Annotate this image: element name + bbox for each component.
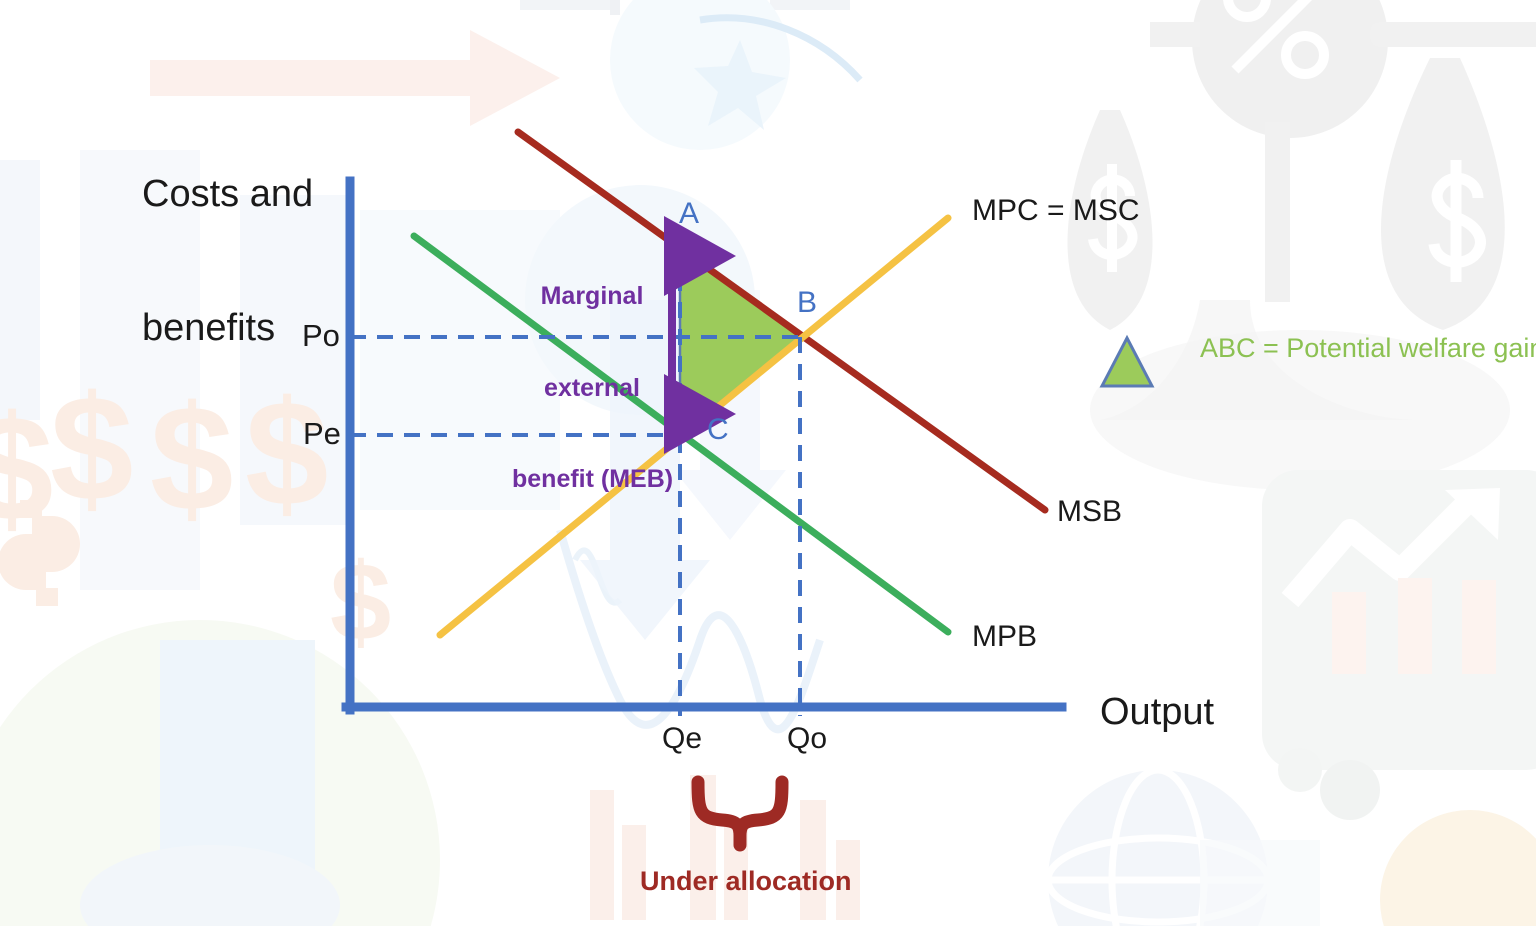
x-axis-title: Output bbox=[1100, 690, 1214, 735]
point-label-c: C bbox=[707, 413, 729, 447]
meb-line1: Marginal bbox=[512, 281, 672, 312]
point-label-a: A bbox=[679, 197, 699, 231]
under-allocation-label: Under allocation bbox=[640, 866, 852, 897]
slide-canvas: $ $ $ $ $ bbox=[0, 0, 1536, 926]
legend-triangle-icon bbox=[1102, 338, 1152, 386]
meb-annotation: Marginal external benefit (MEB) bbox=[512, 220, 672, 556]
price-label-pe: Pe bbox=[303, 416, 341, 452]
legend-welfare-gain-label: ABC = Potential welfare gain bbox=[1200, 332, 1510, 366]
price-label-po: Po bbox=[302, 318, 340, 354]
y-axis-title-line1: Costs and bbox=[142, 172, 313, 217]
curve-label-msb: MSB bbox=[1057, 495, 1122, 529]
welfare-gain-triangle bbox=[680, 248, 800, 435]
curve-label-mpc-msc: MPC = MSC bbox=[972, 194, 1140, 228]
quantity-label-qe: Qe bbox=[662, 722, 702, 756]
point-label-b: B bbox=[797, 286, 817, 320]
y-axis-title: Costs and benefits bbox=[142, 82, 313, 441]
y-axis-title-line2: benefits bbox=[142, 306, 313, 351]
quantity-label-qo: Qo bbox=[787, 722, 827, 756]
meb-line2: external bbox=[512, 373, 672, 404]
meb-line3: benefit (MEB) bbox=[512, 464, 672, 495]
curve-label-mpb: MPB bbox=[972, 620, 1037, 654]
